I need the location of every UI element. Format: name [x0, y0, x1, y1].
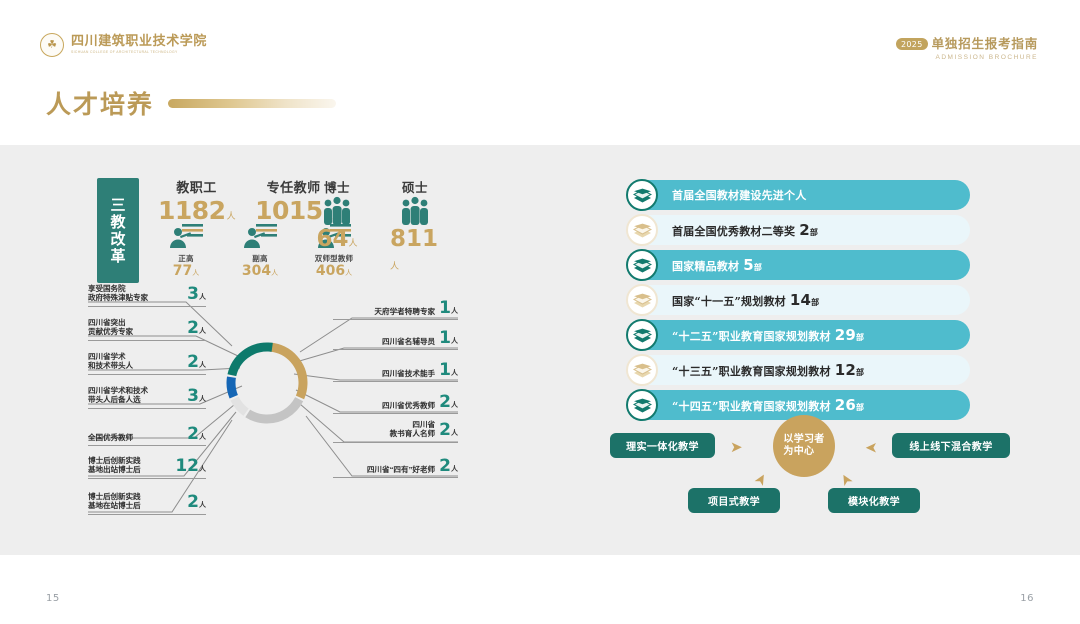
talent-label: 四川省学术和技术带头人后备人选: [88, 386, 148, 405]
stat-value: 1182人: [158, 198, 235, 223]
talent-value: 1人: [439, 330, 458, 346]
list-item: 四川省教书育人名师 2人: [333, 420, 458, 443]
rank-value: 304人: [242, 264, 278, 279]
teacher-rank-item: 正高 77人: [160, 223, 212, 279]
talent-value: 2人: [187, 354, 206, 370]
talent-label: 天府学者特聘专家: [374, 307, 435, 316]
brochure-title-en: ADMISSION BROCHURE: [896, 54, 1038, 61]
page-number-left: 15: [46, 593, 60, 604]
san-jiao-gai-ge-label: 三 教 改 革: [97, 178, 139, 283]
list-item: 四川省名辅导员 1人: [333, 330, 458, 350]
list-item: 四川省优秀教师 2人: [333, 394, 458, 414]
book-stack-icon: [626, 214, 658, 246]
page-number-right: 16: [1020, 593, 1034, 604]
logo-title-en: SICHUAN COLLEGE OF ARCHITECTURAL TECHNOL…: [71, 51, 207, 55]
list-item: 博士后创新实践基地在站博士后 2人: [88, 492, 206, 515]
list-item: 博士后创新实践基地出站博士后 12人: [88, 456, 206, 479]
book-stack-icon: [626, 284, 658, 316]
list-item: “十三五”职业教育国家规划教材 12部: [632, 355, 970, 385]
donut-connectors: [0, 290, 540, 540]
talent-label: 四川省教书育人名师: [390, 420, 436, 439]
brochure-year: 2025: [896, 38, 928, 50]
arrow-left-icon: ➤: [865, 440, 878, 455]
people-group-icon: [396, 196, 434, 226]
content-canvas: 三 教 改 革 教职工 1182人 专任教师 1015人: [0, 145, 1080, 555]
talent-label: 四川省名辅导员: [382, 337, 435, 346]
rank-value: 77人: [173, 264, 199, 279]
stat-staff-total: 教职工 1182人: [158, 177, 235, 223]
arrow-up-right-icon: ➤: [837, 470, 856, 488]
learner-center-circle: 以学习者为中心: [773, 415, 835, 477]
teacher-presenting-icon: [243, 223, 277, 249]
talent-value: 1人: [439, 300, 458, 316]
brochure-badge: 2025 单独招生报考指南 ADMISSION BROCHURE: [896, 37, 1038, 62]
talent-label: 四川省突出贡献优秀专家: [88, 318, 133, 337]
talent-label: 四川省“四有”好老师: [367, 465, 435, 474]
degree-value: 64人: [316, 228, 357, 251]
teacher-rank-item: 副高 304人: [234, 223, 286, 279]
degree-label: 硕士: [402, 177, 428, 196]
talent-label: 全国优秀教师: [88, 433, 133, 442]
talent-value: 2人: [439, 394, 458, 410]
list-item: “十二五”职业教育国家规划教材 29部: [632, 320, 970, 350]
vlabel-char-2: 改: [110, 231, 125, 247]
row-text: 首届全国教材建设先进个人: [672, 187, 806, 203]
list-item: 四川省学术和技术带头人后备人选 3人: [88, 386, 206, 409]
talent-label: 四川省优秀教师: [382, 401, 435, 410]
talent-label: 四川省技术能手: [382, 369, 435, 378]
talent-value: 2人: [187, 494, 206, 510]
learner-centered-diagram: 以学习者为中心 理实一体化教学 线上线下混合教学 项目式教学 模块化教学 ➤ ➤…: [540, 410, 1080, 530]
book-stack-icon: [626, 354, 658, 386]
row-text: 首届全国优秀教材二等奖 2部: [672, 221, 818, 239]
talent-value: 3人: [187, 286, 206, 302]
talent-value: 2人: [439, 422, 458, 438]
page-title-text: 人才培养: [46, 85, 154, 121]
vlabel-char-0: 三: [110, 197, 125, 213]
talent-label: 博士后创新实践基地出站博士后: [88, 456, 140, 475]
brochure-title-cn: 单独招生报考指南: [932, 37, 1038, 51]
list-item: 首届全国优秀教材二等奖 2部: [632, 215, 970, 245]
list-item: 享受国务院政府特殊津贴专家 3人: [88, 284, 206, 307]
list-item: 四川省“四有”好老师 2人: [333, 458, 458, 478]
teaching-mode-bottom-left: 项目式教学: [688, 488, 780, 513]
talent-value: 3人: [187, 388, 206, 404]
list-item: 全国优秀教师 2人: [88, 426, 206, 446]
right-panel: 首届全国教材建设先进个人 首届全国优秀教材二等奖 2部 国家精品教材 5: [540, 145, 1080, 555]
seal-emblem-icon: ☘: [40, 33, 64, 57]
list-item: 四川省技术能手 1人: [333, 362, 458, 382]
talent-value: 2人: [187, 320, 206, 336]
degree-label: 博士: [324, 177, 350, 196]
talent-value: 2人: [439, 458, 458, 474]
book-stack-icon: [626, 249, 658, 281]
teacher-presenting-icon: [169, 223, 203, 249]
degree-master: 硕士 811人: [390, 177, 440, 274]
title-gradient-bar: [168, 99, 336, 108]
staff-summary-stats: 教职工 1182人 专任教师 1015人: [158, 177, 332, 223]
list-item: 国家“十一五”规划教材 14部: [632, 285, 970, 315]
arrow-up-left-icon: ➤: [752, 470, 771, 488]
row-text: 国家精品教材 5部: [672, 256, 762, 274]
college-logo: ☘ 四川建筑职业技术学院 SICHUAN COLLEGE OF ARCHITEC…: [40, 33, 207, 57]
teaching-mode-right: 线上线下混合教学: [892, 433, 1010, 458]
page-title: 人才培养: [46, 85, 336, 121]
stat-label: 教职工: [176, 177, 217, 196]
teaching-mode-bottom-right: 模块化教学: [828, 488, 920, 513]
list-item: 首届全国教材建设先进个人: [632, 180, 970, 210]
talent-value: 12人: [175, 458, 206, 474]
degree-value: 811人: [390, 228, 440, 274]
teaching-mode-left: 理实一体化教学: [610, 433, 715, 458]
logo-title-cn: 四川建筑职业技术学院: [71, 35, 207, 49]
talent-value: 1人: [439, 362, 458, 378]
talent-label: 四川省学术和技术带头人: [88, 352, 133, 371]
vlabel-char-3: 革: [110, 248, 125, 264]
left-panel: 三 教 改 革 教职工 1182人 专任教师 1015人: [0, 145, 540, 555]
book-stack-icon: [626, 319, 658, 351]
list-item: 国家精品教材 5部: [632, 250, 970, 280]
talent-donut-diagram: 享受国务院政府特殊津贴专家 3人 四川省突出贡献优秀专家 2人 四川省学术和技术…: [0, 290, 540, 540]
talent-label: 享受国务院政府特殊津贴专家: [88, 284, 148, 303]
book-stack-icon: [626, 179, 658, 211]
row-text: 国家“十一五”规划教材 14部: [672, 291, 819, 309]
people-group-icon: [318, 196, 356, 226]
talent-label: 博士后创新实践基地在站博士后: [88, 492, 140, 511]
list-item: 天府学者特聘专家 1人: [333, 300, 458, 320]
list-item: 四川省学术和技术带头人 2人: [88, 352, 206, 375]
row-text: “十二五”职业教育国家规划教材 29部: [672, 326, 864, 344]
row-text: “十三五”职业教育国家规划教材 12部: [672, 361, 864, 379]
talent-value: 2人: [187, 426, 206, 442]
arrow-right-icon: ➤: [730, 440, 743, 455]
list-item: 四川省突出贡献优秀专家 2人: [88, 318, 206, 341]
vlabel-char-1: 教: [110, 214, 125, 230]
degree-group: 博士 64人 硕士: [312, 177, 440, 274]
brochure-page: ☘ 四川建筑职业技术学院 SICHUAN COLLEGE OF ARCHITEC…: [0, 0, 1080, 624]
degree-doctor: 博士 64人: [312, 177, 362, 274]
